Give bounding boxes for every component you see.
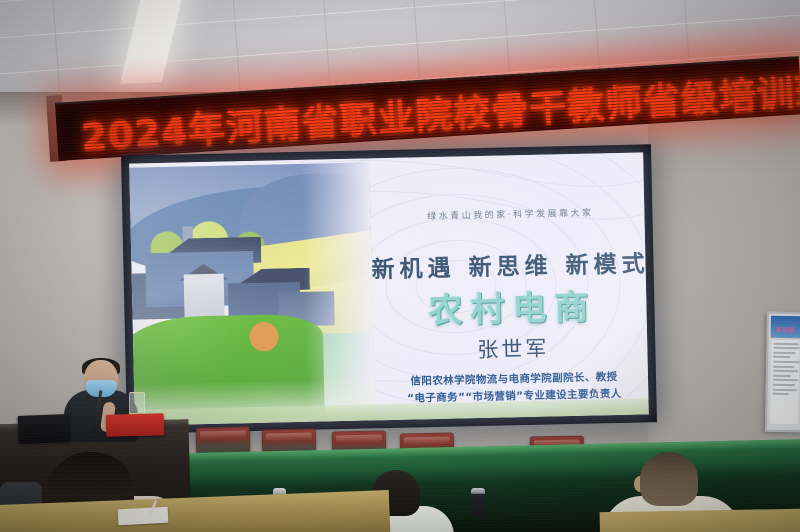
thermos-bottle xyxy=(471,488,485,518)
audience-desk xyxy=(600,508,800,532)
conference-room-photo: 2024年河南省职业院校骨干教师省级培训班 xyxy=(0,0,800,532)
village-photo xyxy=(129,162,374,421)
notepaper xyxy=(118,507,169,526)
poster-header: 多功能 xyxy=(771,316,800,339)
poster-body xyxy=(770,340,799,424)
projection-screen-frame: 绿水青山我的家·科学发展靠大家 新机遇 新思维 新模式 农村电商 张世军 信阳农… xyxy=(121,144,657,433)
poster-title: 多功能 xyxy=(771,325,800,335)
presentation-slide: 绿水青山我的家·科学发展靠大家 新机遇 新思维 新模式 农村电商 张世军 信阳农… xyxy=(129,152,649,425)
slide-speaker: 张世军 xyxy=(383,330,644,366)
projection-screen: 绿水青山我的家·科学发展靠大家 新机遇 新思维 新模式 农村电商 张世军 信阳农… xyxy=(129,152,649,425)
nameplate xyxy=(106,413,165,437)
wall-poster: 多功能 xyxy=(765,312,800,433)
laptop xyxy=(18,414,71,444)
nameplate-text xyxy=(106,413,165,437)
ceiling-light-1 xyxy=(120,0,191,84)
slide-title: 农村电商 xyxy=(382,278,643,333)
audience-member-head xyxy=(640,452,698,506)
